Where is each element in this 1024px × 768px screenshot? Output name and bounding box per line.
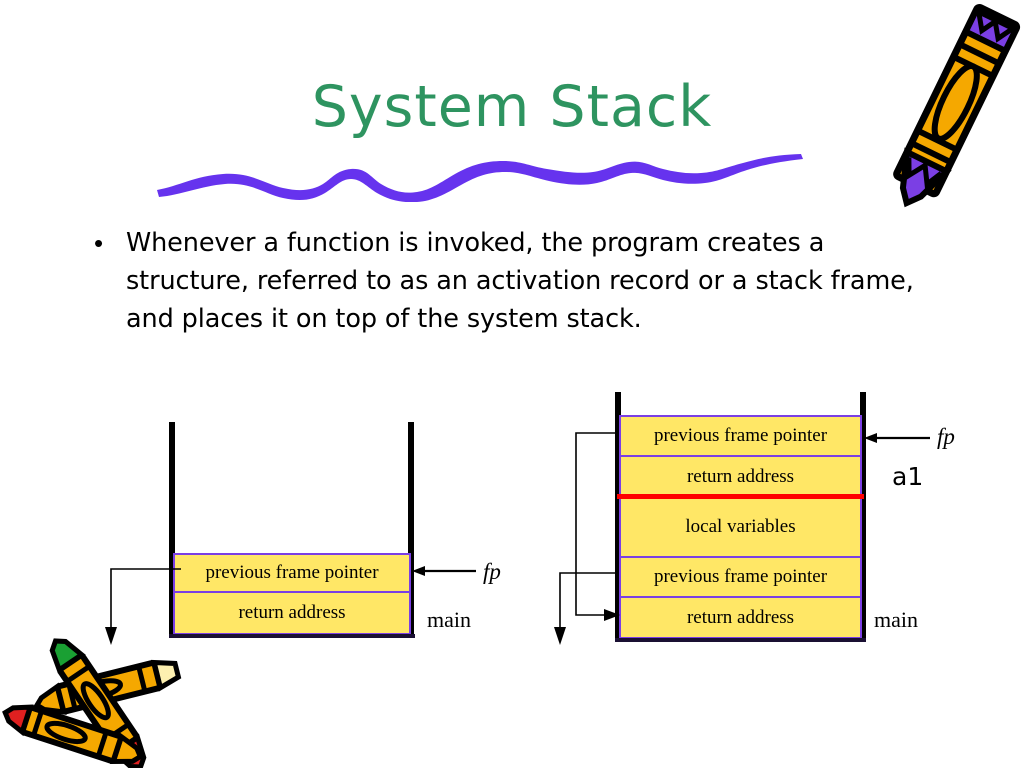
label-fp: fp [937, 424, 955, 450]
label-main: main [427, 607, 471, 633]
frame-row-local-variables: local variables [619, 498, 862, 558]
label-a1: a1 [892, 462, 923, 491]
frame-boundary-divider [617, 494, 864, 499]
frame-chain-arrows [554, 425, 624, 650]
frame-row-label: previous frame pointer [654, 425, 827, 447]
frame-row-label: return address [687, 466, 794, 488]
label-main: main [874, 607, 918, 633]
frame-row-return-address-a1: return address [619, 457, 862, 498]
frame-row-return-address-main: return address [619, 598, 862, 639]
stack-diagram-left: previous frame pointer return address fp… [0, 0, 520, 660]
fp-pointer-arrow [862, 423, 934, 453]
frame-row-label: previous frame pointer [654, 566, 827, 588]
frame-row-label: local variables [685, 516, 795, 538]
frame-row-label: return address [238, 602, 345, 624]
frame-row-return-address: return address [173, 593, 411, 635]
stack-base-shadow [615, 638, 866, 642]
fp-pointer-arrow [410, 556, 480, 586]
frame-row-label: return address [687, 607, 794, 629]
slide-canvas: System Stack • Whenever a function is in… [0, 0, 1024, 768]
frame-row-prev-frame-pointer-a1: previous frame pointer [619, 415, 862, 457]
frame-row-prev-frame-pointer: previous frame pointer [173, 553, 411, 593]
label-fp: fp [483, 559, 501, 585]
crayon-icon [884, 0, 1024, 216]
frame-row-label: previous frame pointer [205, 562, 378, 584]
frame-row-prev-frame-pointer-main: previous frame pointer [619, 558, 862, 598]
crayons-icon [2, 638, 217, 768]
